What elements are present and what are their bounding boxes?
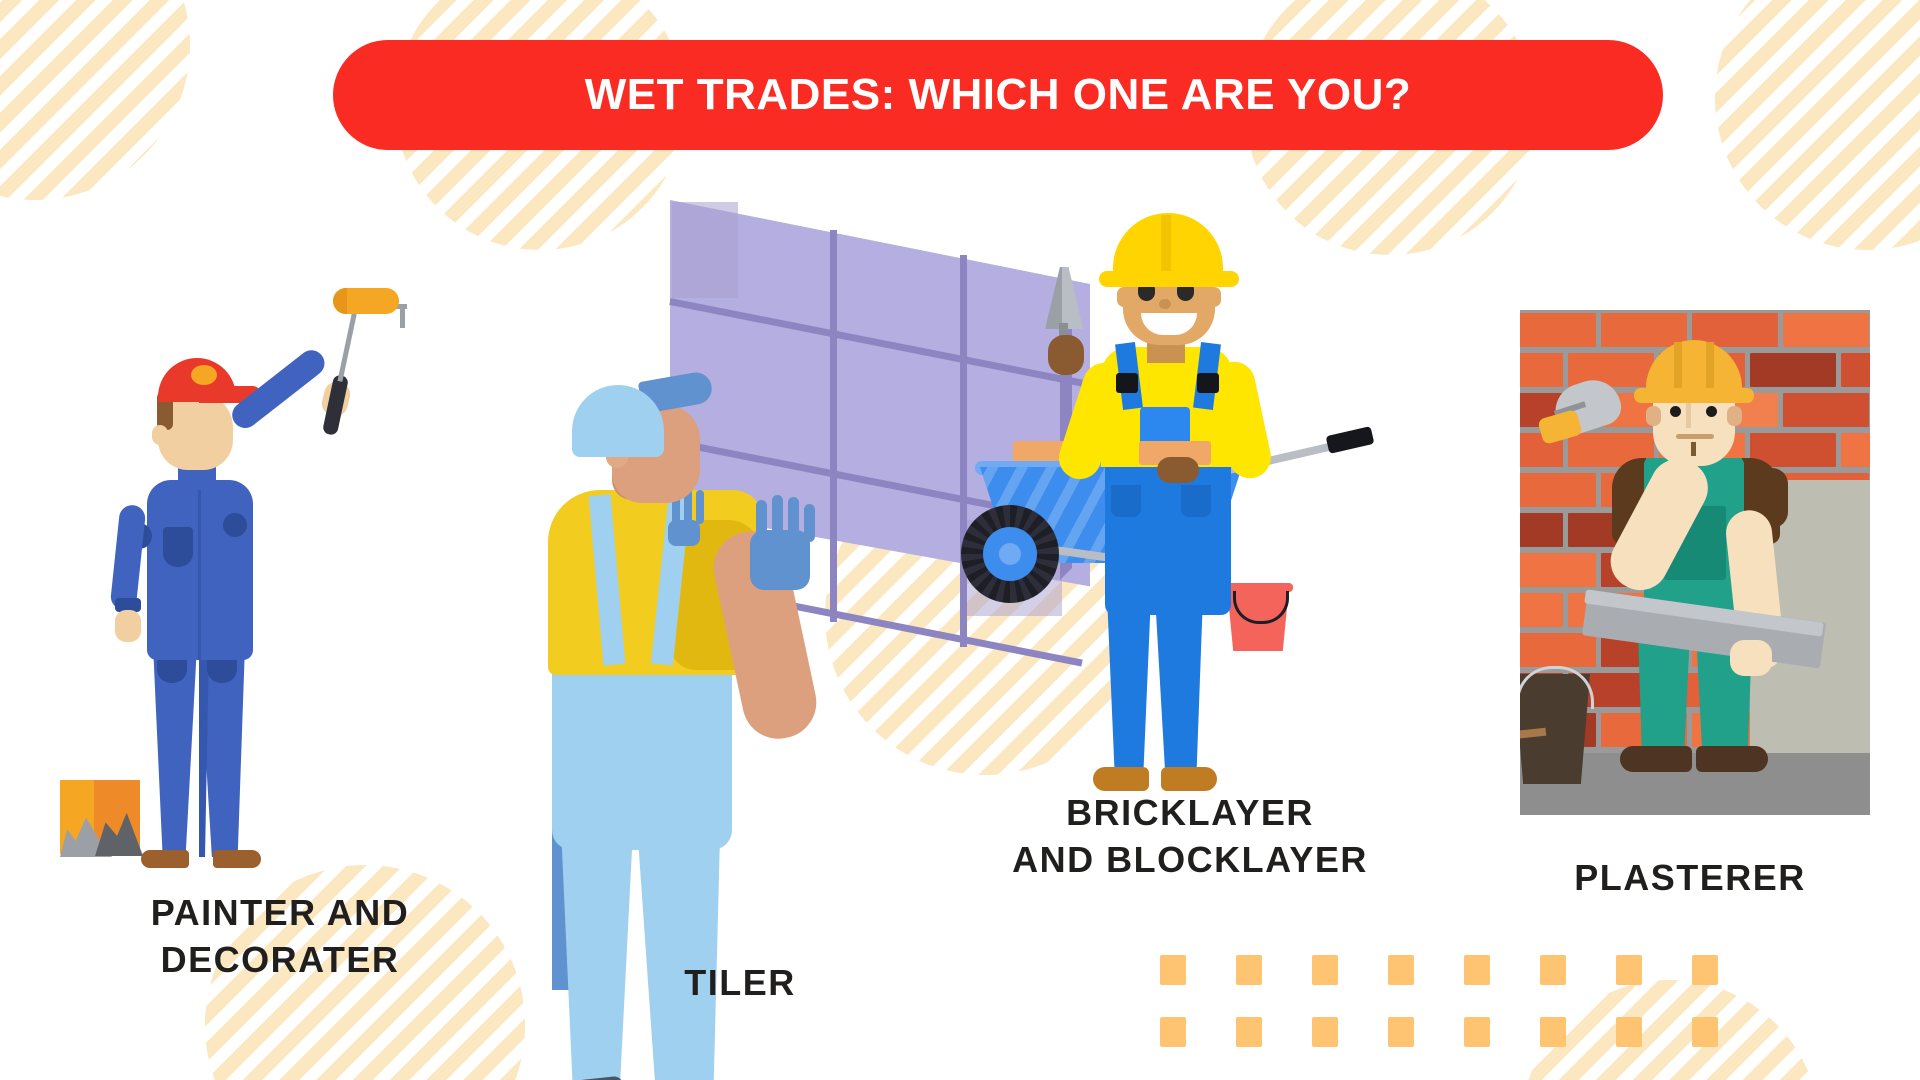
bricklayer-leg-right	[1155, 595, 1203, 780]
hard-hat-rib	[1161, 215, 1171, 273]
painter-ear	[152, 425, 168, 445]
dot-grid-cell	[1540, 955, 1566, 985]
bricklayer-glove-left	[1048, 335, 1084, 375]
dot-grid-cell	[1616, 955, 1642, 985]
tiler-glove-left-finger-3	[696, 490, 704, 524]
bricklayer-ear-left	[1117, 287, 1131, 307]
caption-tiler: TILER	[560, 960, 920, 1007]
illustration-bricklayer	[985, 195, 1405, 725]
plasterer-boot-left	[1620, 746, 1692, 772]
title-banner: WET TRADES: WHICH ONE ARE YOU?	[333, 40, 1663, 150]
plasterer-eye-left	[1670, 406, 1681, 417]
plasterer-hard-hat-brim	[1634, 388, 1754, 403]
brick	[1520, 513, 1563, 547]
tiler-glove-finger-1	[756, 500, 767, 542]
tile-grout-v1	[830, 230, 837, 622]
bricklayer-nose	[1159, 299, 1171, 309]
illustration-plasterer	[1520, 310, 1870, 815]
plasterer-ear-left	[1646, 406, 1661, 426]
poster-canvas: WET TRADES: WHICH ONE ARE YOU?	[0, 0, 1920, 1080]
tile-grout-v2	[960, 255, 967, 647]
brick	[1783, 313, 1869, 347]
plasterer-hard-hat-rib-1	[1674, 342, 1682, 390]
caption-painter: PAINTER AND DECORATER	[60, 890, 500, 984]
plasterer-nose	[1686, 402, 1691, 428]
caption-bricklayer-line2: AND BLOCKLAYER	[950, 837, 1430, 884]
striped-circle-top-right2	[1715, 0, 1920, 250]
striped-circle-top-left	[0, 0, 190, 200]
bricklayer-pocket-left	[1111, 485, 1141, 517]
plasterer-mouth	[1676, 434, 1714, 439]
brick	[1520, 593, 1563, 627]
bricklayer-pocket-right	[1181, 485, 1211, 517]
caption-painter-line1: PAINTER AND	[60, 890, 500, 937]
dot-grid-cell	[1616, 1017, 1642, 1047]
caption-plasterer-line1: PLASTERER	[1480, 855, 1900, 902]
dot-grid-cell	[1540, 1017, 1566, 1047]
tiler-glove-finger-3	[788, 497, 799, 541]
dot-grid-cell	[1236, 955, 1262, 985]
dot-grid-cell	[1236, 1017, 1262, 1047]
plasterer-boot-right	[1696, 746, 1768, 772]
bricklayer-ear-right	[1207, 287, 1221, 307]
painter-hand-left	[115, 610, 141, 642]
plasterer-strap-right	[1720, 458, 1742, 508]
dot-grid-cell	[1312, 955, 1338, 985]
bricklayer-boot-right	[1161, 767, 1217, 791]
painter-chest-pocket	[163, 527, 193, 567]
illustration-painter	[95, 280, 425, 880]
caption-tiler-line1: TILER	[560, 960, 920, 1007]
brick	[1841, 353, 1870, 387]
bricklayer-boot-left	[1093, 767, 1149, 791]
bricklayer-bib-pocket	[1140, 407, 1190, 445]
brick	[1520, 313, 1596, 347]
tiler-glove-finger-4	[804, 504, 815, 542]
plasterer-leg-left	[1638, 632, 1690, 762]
brick	[1520, 633, 1596, 667]
paint-roller-frame-bend	[400, 306, 405, 328]
dot-grid-cell	[1692, 1017, 1718, 1047]
painter-overalls-seam	[198, 490, 201, 660]
plasterer-hand-right	[1730, 640, 1772, 676]
painter-shoe-left	[141, 850, 189, 868]
tiler-leg-right	[636, 810, 728, 1080]
dot-grid-cell	[1464, 1017, 1490, 1047]
bricklayer-buckle-right	[1197, 373, 1219, 393]
dot-grid-cell	[1160, 1017, 1186, 1047]
caption-bricklayer-line1: BRICKLAYER	[950, 790, 1430, 837]
wheelbarrow-grip	[1326, 426, 1375, 454]
painter-arm-left	[110, 504, 147, 611]
dot-grid-cell	[1388, 1017, 1414, 1047]
brick	[1520, 473, 1596, 507]
caption-plasterer: PLASTERER	[1480, 855, 1900, 902]
plasterer-hard-hat-rib-2	[1706, 342, 1714, 390]
page-title: WET TRADES: WHICH ONE ARE YOU?	[585, 70, 1412, 120]
tiler-glove-left	[668, 520, 700, 546]
bricklayer-buckle-left	[1116, 373, 1138, 393]
painter-cap-badge	[191, 365, 217, 385]
trowel-blade-shade	[1045, 267, 1062, 329]
brick	[1520, 553, 1596, 587]
caption-bricklayer: BRICKLAYER AND BLOCKLAYER	[950, 790, 1430, 884]
brick	[1750, 353, 1836, 387]
plasterer-ear-right	[1727, 406, 1742, 426]
tile-panel-shadow-top	[672, 202, 738, 298]
paint-roller-frame-stem	[337, 307, 357, 381]
wheelbarrow-hub-center	[999, 543, 1021, 565]
bricklayer-glove-right	[1157, 457, 1199, 483]
brick	[1520, 353, 1563, 387]
painter-shoulder-patch	[223, 513, 247, 537]
hard-hat-brim	[1099, 271, 1239, 287]
dot-grid-cell	[1160, 955, 1186, 985]
plasterer-goatee	[1691, 442, 1696, 456]
brick	[1841, 433, 1870, 467]
tiler-glove-finger-2	[772, 495, 783, 541]
painter-shoe-right	[213, 850, 261, 868]
brick	[1783, 393, 1869, 427]
caption-painter-line2: DECORATER	[60, 937, 500, 984]
dot-grid-cell	[1464, 955, 1490, 985]
paint-roller-sleeve-shade	[333, 288, 347, 314]
dot-grid-cell	[1388, 955, 1414, 985]
dot-grid-cell	[1692, 955, 1718, 985]
decorative-dot-grid	[1160, 955, 1718, 1047]
dot-grid-cell	[1312, 1017, 1338, 1047]
plasterer-eye-right	[1706, 406, 1717, 417]
